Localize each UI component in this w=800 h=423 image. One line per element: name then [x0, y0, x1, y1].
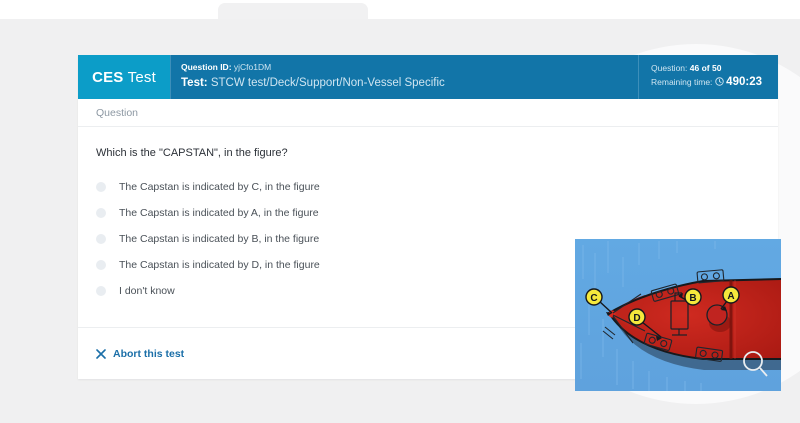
question-prompt: Which is the "CAPSTAN", in the figure?: [96, 147, 760, 159]
remaining-time-label: Remaining time:: [651, 77, 712, 87]
abort-test-button[interactable]: Abort this test: [96, 348, 184, 360]
browser-chrome: [0, 0, 800, 19]
close-x-icon: [96, 349, 106, 359]
brand-name-bold: CES: [92, 69, 123, 86]
figure-callout-c: C: [586, 289, 602, 305]
remaining-time-value: 490:23: [726, 76, 762, 88]
figure-callout-a: A: [723, 287, 739, 303]
radio-button-icon[interactable]: [96, 234, 106, 244]
radio-button-icon[interactable]: [96, 208, 106, 218]
page-background: CES Test Question ID: yjCfo1DM Test: STC…: [0, 19, 800, 423]
test-label: Test:: [181, 77, 208, 89]
answer-option[interactable]: The Capstan is indicated by A, in the fi…: [96, 201, 760, 225]
answer-option-label: The Capstan is indicated by A, in the fi…: [119, 207, 319, 219]
svg-text:A: A: [727, 291, 734, 302]
question-id-value: yjCfo1DM: [234, 62, 271, 72]
question-counter-label: Question:: [651, 63, 687, 73]
svg-text:B: B: [689, 293, 696, 304]
answer-option-label: The Capstan is indicated by C, in the fi…: [119, 181, 320, 193]
card-header: CES Test Question ID: yjCfo1DM Test: STC…: [78, 55, 778, 99]
question-id-label: Question ID:: [181, 62, 232, 72]
question-counter-value: 46 of 50: [690, 63, 722, 73]
test-value: STCW test/Deck/Support/Non-Vessel Specif…: [211, 77, 445, 89]
svg-text:D: D: [633, 313, 640, 324]
figure-callout-d: D: [629, 309, 645, 325]
figure-callout-b: B: [685, 289, 701, 305]
tab-strip: Question: [78, 99, 778, 127]
card-body: Which is the "CAPSTAN", in the figure? T…: [78, 127, 778, 327]
answer-option-label: The Capstan is indicated by D, in the fi…: [119, 259, 320, 271]
question-figure[interactable]: C D B A: [575, 239, 781, 391]
clock-icon: [715, 76, 724, 90]
question-card: CES Test Question ID: yjCfo1DM Test: STC…: [78, 55, 778, 379]
radio-button-icon[interactable]: [96, 182, 106, 192]
brand-logo-text: CES Test: [92, 69, 156, 86]
answer-option-label: I don't know: [119, 285, 175, 297]
remaining-time: Remaining time: 490:23: [651, 75, 778, 90]
radio-button-icon[interactable]: [96, 260, 106, 270]
radio-button-icon[interactable]: [96, 286, 106, 296]
tab-question[interactable]: Question: [96, 107, 138, 119]
test-name-line: Test: STCW test/Deck/Support/Non-Vessel …: [181, 74, 638, 92]
header-test-info: Question ID: yjCfo1DM Test: STCW test/De…: [170, 55, 638, 99]
brand-logo[interactable]: CES Test: [78, 55, 170, 99]
brand-name-light: Test: [128, 69, 156, 86]
answer-option[interactable]: The Capstan is indicated by C, in the fi…: [96, 175, 760, 199]
question-counter: Question: 46 of 50: [651, 61, 778, 75]
svg-text:C: C: [590, 293, 597, 304]
question-id-line: Question ID: yjCfo1DM: [181, 60, 638, 74]
header-status: Question: 46 of 50 Remaining time: 490:2…: [638, 55, 778, 99]
abort-test-label: Abort this test: [113, 348, 184, 360]
answer-option-label: The Capstan is indicated by B, in the fi…: [119, 233, 319, 245]
